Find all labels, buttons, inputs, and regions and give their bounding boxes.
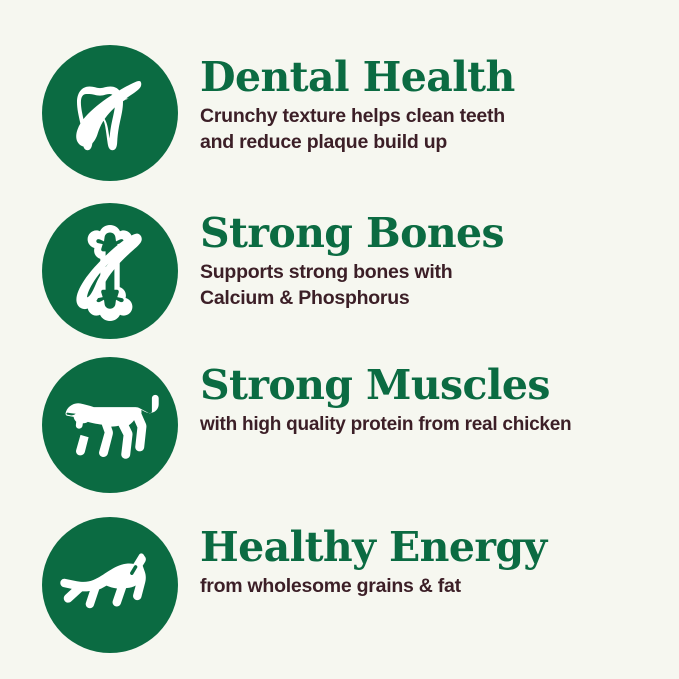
benefit-icon-badge — [42, 517, 178, 653]
benefit-icon-badge — [42, 45, 178, 181]
benefit-description-line: from wholesome grains & fat — [200, 574, 669, 600]
benefit-row: Dental Health Crunchy texture helps clea… — [0, 45, 679, 181]
benefit-description: Supports strong bones with Calcium & Pho… — [200, 255, 669, 312]
benefit-description-line: and reduce plaque build up — [200, 130, 669, 156]
benefit-description-line: Crunchy texture helps clean teeth — [200, 104, 669, 130]
benefit-description: Crunchy texture helps clean teeth and re… — [200, 99, 669, 156]
benefit-description-line: with high quality protein from real chic… — [200, 412, 669, 437]
benefit-text-column: Strong Muscles with high quality protein… — [178, 357, 679, 437]
benefit-title: Healthy Energy — [200, 517, 669, 569]
benefit-icon-badge — [42, 203, 178, 339]
benefit-description-line: Supports strong bones with — [200, 260, 669, 286]
benefit-description: with high quality protein from real chic… — [200, 407, 669, 437]
benefit-text-column: Strong Bones Supports strong bones with … — [178, 203, 679, 312]
benefit-description: from wholesome grains & fat — [200, 569, 669, 600]
standing-dog-icon — [58, 382, 162, 468]
benefit-row: Strong Muscles with high quality protein… — [0, 357, 679, 493]
benefit-row: Strong Bones Supports strong bones with … — [0, 203, 679, 339]
leaping-dog-icon — [55, 549, 165, 621]
tooth-leaf-icon — [65, 67, 155, 159]
benefit-description-line: Calcium & Phosphorus — [200, 286, 669, 312]
benefit-title: Dental Health — [200, 45, 669, 99]
benefit-row: Healthy Energy from wholesome grains & f… — [0, 517, 679, 653]
bone-leaf-icon — [66, 221, 154, 321]
benefit-icon-badge — [42, 357, 178, 493]
benefit-text-column: Healthy Energy from wholesome grains & f… — [178, 517, 679, 600]
benefits-infographic: Dental Health Crunchy texture helps clea… — [0, 0, 679, 679]
benefit-title: Strong Muscles — [200, 357, 669, 407]
benefit-text-column: Dental Health Crunchy texture helps clea… — [178, 45, 679, 156]
benefit-title: Strong Bones — [200, 203, 669, 255]
